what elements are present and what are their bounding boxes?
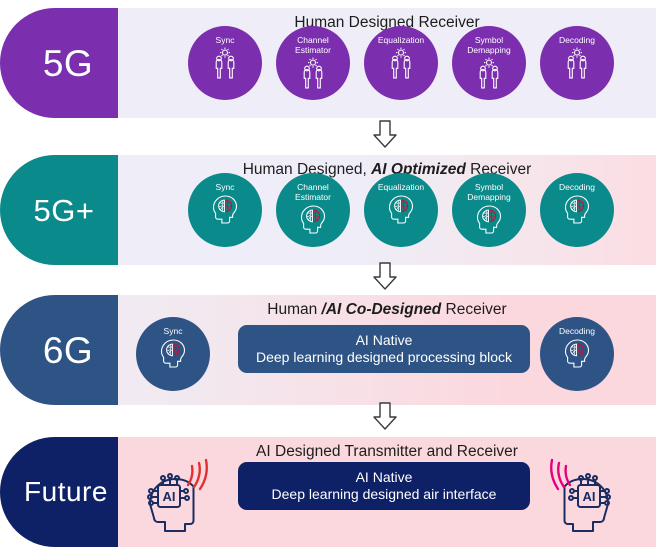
block-sync[interactable]: Sync [188,26,262,100]
ai-box-line2: Deep learning designed air interface [272,486,497,503]
two-people-gear-icon [557,46,597,80]
ai-box-line1: AI Native [356,469,413,486]
ai-chip-head-right-icon: AI [540,452,626,538]
two-people-gear-icon [469,56,509,90]
head-brain-icon [293,203,333,237]
block-label: Equalization [365,182,437,192]
generation-row-future: Future AI Designed Transmitter and Recei… [0,437,656,547]
block-label: Sync [137,326,209,336]
block-decoding[interactable]: Decoding [540,26,614,100]
block-symbol-demapping[interactable]: SymbolDemapping [452,173,526,247]
block-label: SymbolDemapping [453,35,525,55]
ai-box-line2: Deep learning designed processing block [256,349,512,366]
head-brain-icon [557,337,597,371]
block-label: Sync [189,35,261,45]
block-channel-estimator[interactable]: ChannelEstimator [276,26,350,100]
generation-label: 5G [25,45,93,82]
svg-text:AI: AI [163,489,176,504]
head-brain-icon [381,193,421,227]
two-people-gear-icon [205,46,245,80]
block-label: ChannelEstimator [277,35,349,55]
head-brain-icon [205,193,245,227]
generation-label: Future [10,478,108,506]
flow-arrow-2 [372,262,398,290]
diagram-canvas: 5G Human Designed Receiver Sync [0,0,656,555]
head-brain-icon [153,337,193,371]
block-sync[interactable]: Sync [188,173,262,247]
flow-arrow-3 [372,402,398,430]
block-decoding[interactable]: Decoding [540,317,614,391]
block-label: Decoding [541,326,613,336]
generation-badge-5g: 5G [0,8,118,118]
block-sync[interactable]: Sync [136,317,210,391]
processing-blocks-5g-plus: Sync ChannelEstimator [118,155,656,265]
generation-label: 6G [25,332,93,369]
row-title-text: AI Designed Transmitter and Receiver [256,443,518,460]
block-equalization[interactable]: Equalization [364,26,438,100]
block-label: SymbolDemapping [453,182,525,202]
block-label: Decoding [541,35,613,45]
ai-box-line1: AI Native [356,332,413,349]
block-decoding[interactable]: Decoding [540,173,614,247]
flow-arrow-1 [372,120,398,148]
ai-chip-head-left-icon: AI [132,452,218,538]
svg-text:AI: AI [583,489,596,504]
block-label: Equalization [365,35,437,45]
two-people-gear-icon [381,46,421,80]
block-label: Decoding [541,182,613,192]
ai-native-air-interface-block[interactable]: AI Native Deep learning designed air int… [238,462,530,510]
generation-badge-future: Future [0,437,118,547]
head-brain-icon [557,193,597,227]
block-equalization[interactable]: Equalization [364,173,438,247]
block-label: ChannelEstimator [277,182,349,202]
generation-row-5g: 5G Human Designed Receiver Sync [0,8,656,118]
two-people-gear-icon [293,56,333,90]
generation-label: 5G+ [24,195,95,226]
block-channel-estimator[interactable]: ChannelEstimator [276,173,350,247]
generation-row-6g: 6G Human /AI Co-Designed Receiver Sync [0,295,656,405]
ai-native-processing-block[interactable]: AI Native Deep learning designed process… [238,325,530,373]
generation-row-5g-plus: 5G+ Human Designed, AI Optimized Receive… [0,155,656,265]
block-symbol-demapping[interactable]: SymbolDemapping [452,26,526,100]
block-label: Sync [189,182,261,192]
processing-blocks-5g: Sync Channe [118,8,656,118]
generation-badge-6g: 6G [0,295,118,405]
generation-badge-5g-plus: 5G+ [0,155,118,265]
head-brain-icon [469,203,509,237]
